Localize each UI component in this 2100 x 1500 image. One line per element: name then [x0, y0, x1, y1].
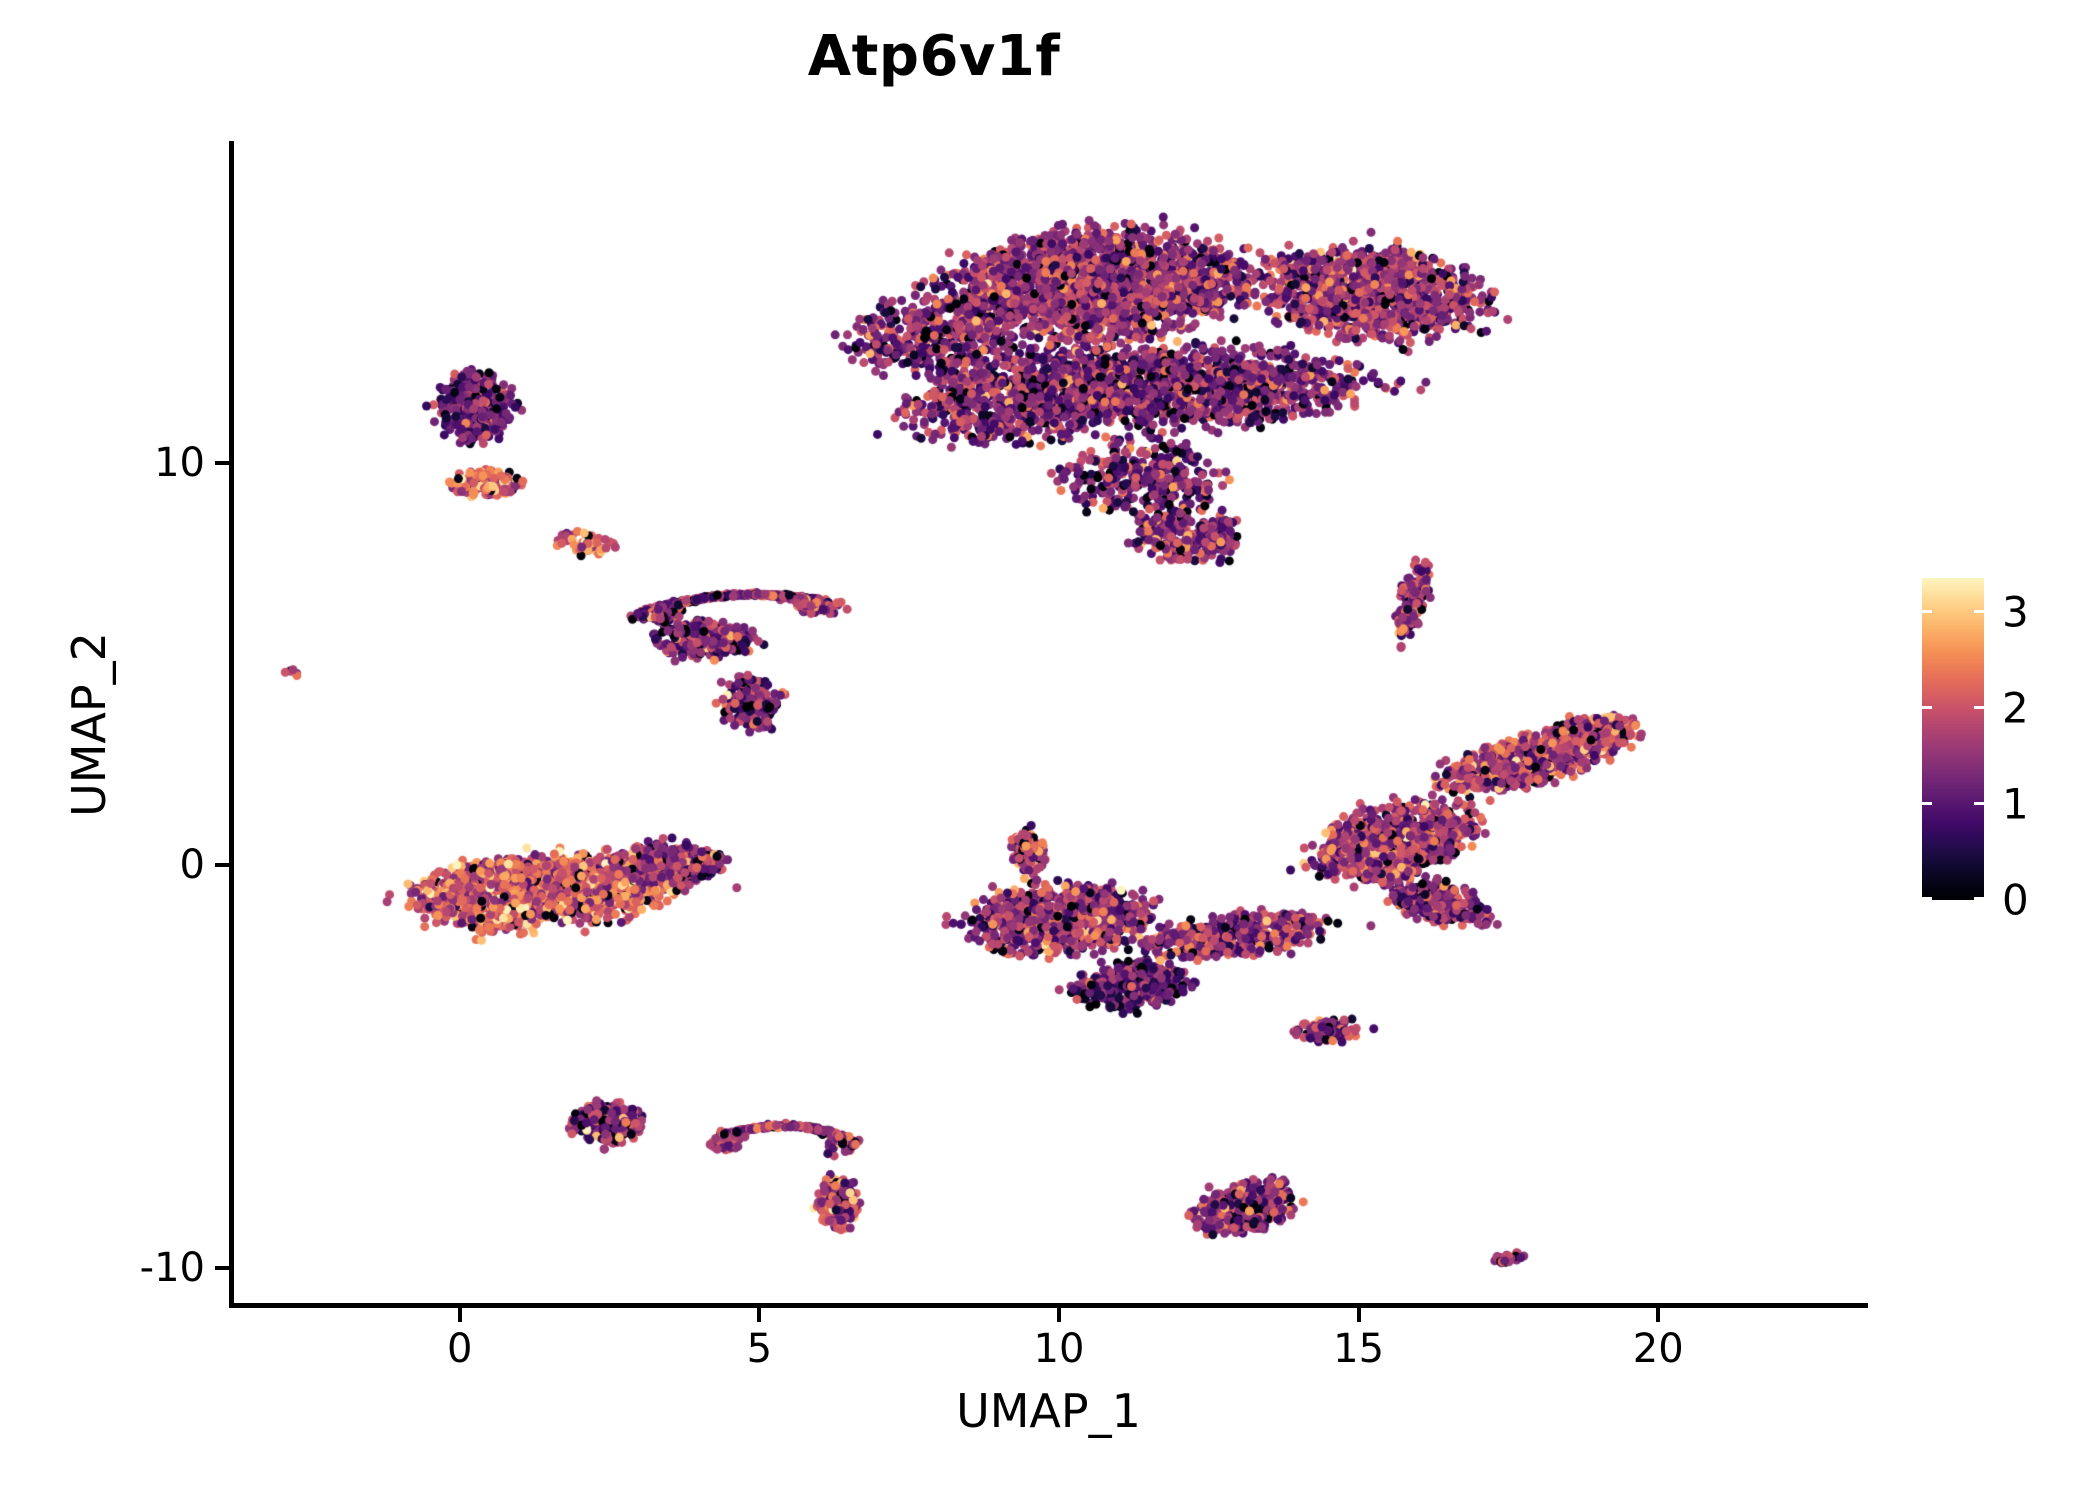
colorbar-gradient [1922, 578, 1984, 900]
colorbar-tick-label: 3 [2002, 587, 2029, 636]
x-tick-mark [1057, 1308, 1061, 1322]
x-tick-label: 10 [1034, 1326, 1085, 1372]
x-tick-label: 15 [1333, 1326, 1384, 1372]
colorbar-tick-mark [1922, 802, 1932, 805]
x-tick-label: 20 [1633, 1326, 1684, 1372]
x-tick-mark [458, 1308, 462, 1322]
colorbar-tick-mark [1922, 610, 1932, 613]
y-tick-mark [215, 863, 229, 867]
colorbar-tick-mark [1974, 610, 1984, 613]
x-tick-label: 0 [447, 1326, 472, 1372]
y-tick-label: 10 [154, 440, 205, 486]
colorbar-tick-mark [1922, 706, 1932, 709]
colorbar: 0123 [1922, 578, 2092, 900]
colorbar-tick-mark [1974, 706, 1984, 709]
x-axis-spine [229, 1303, 1868, 1308]
y-tick-label: -10 [140, 1245, 205, 1291]
colorbar-tick-label: 0 [2002, 876, 2029, 925]
x-tick-mark [1656, 1308, 1660, 1322]
x-tick-mark [757, 1308, 761, 1322]
x-tick-label: 5 [747, 1326, 772, 1372]
y-tick-label: 0 [180, 842, 205, 888]
y-axis-spine [229, 141, 234, 1308]
colorbar-tick-mark [1974, 802, 1984, 805]
umap-feature-plot: Atp6v1f 05101520 -10010 UMAP_1 UMAP_2 01… [0, 0, 2100, 1500]
scatter-plot-canvas [229, 141, 1868, 1308]
y-tick-mark [215, 461, 229, 465]
page-title: Atp6v1f [0, 24, 1868, 89]
y-axis-label: UMAP_2 [62, 141, 116, 1308]
colorbar-tick-label: 1 [2002, 779, 2029, 828]
colorbar-tick-mark [1974, 897, 1984, 900]
y-tick-mark [215, 1266, 229, 1270]
x-axis-label: UMAP_1 [229, 1384, 1868, 1438]
colorbar-tick-label: 2 [2002, 683, 2029, 732]
colorbar-tick-mark [1922, 897, 1932, 900]
x-tick-mark [1357, 1308, 1361, 1322]
